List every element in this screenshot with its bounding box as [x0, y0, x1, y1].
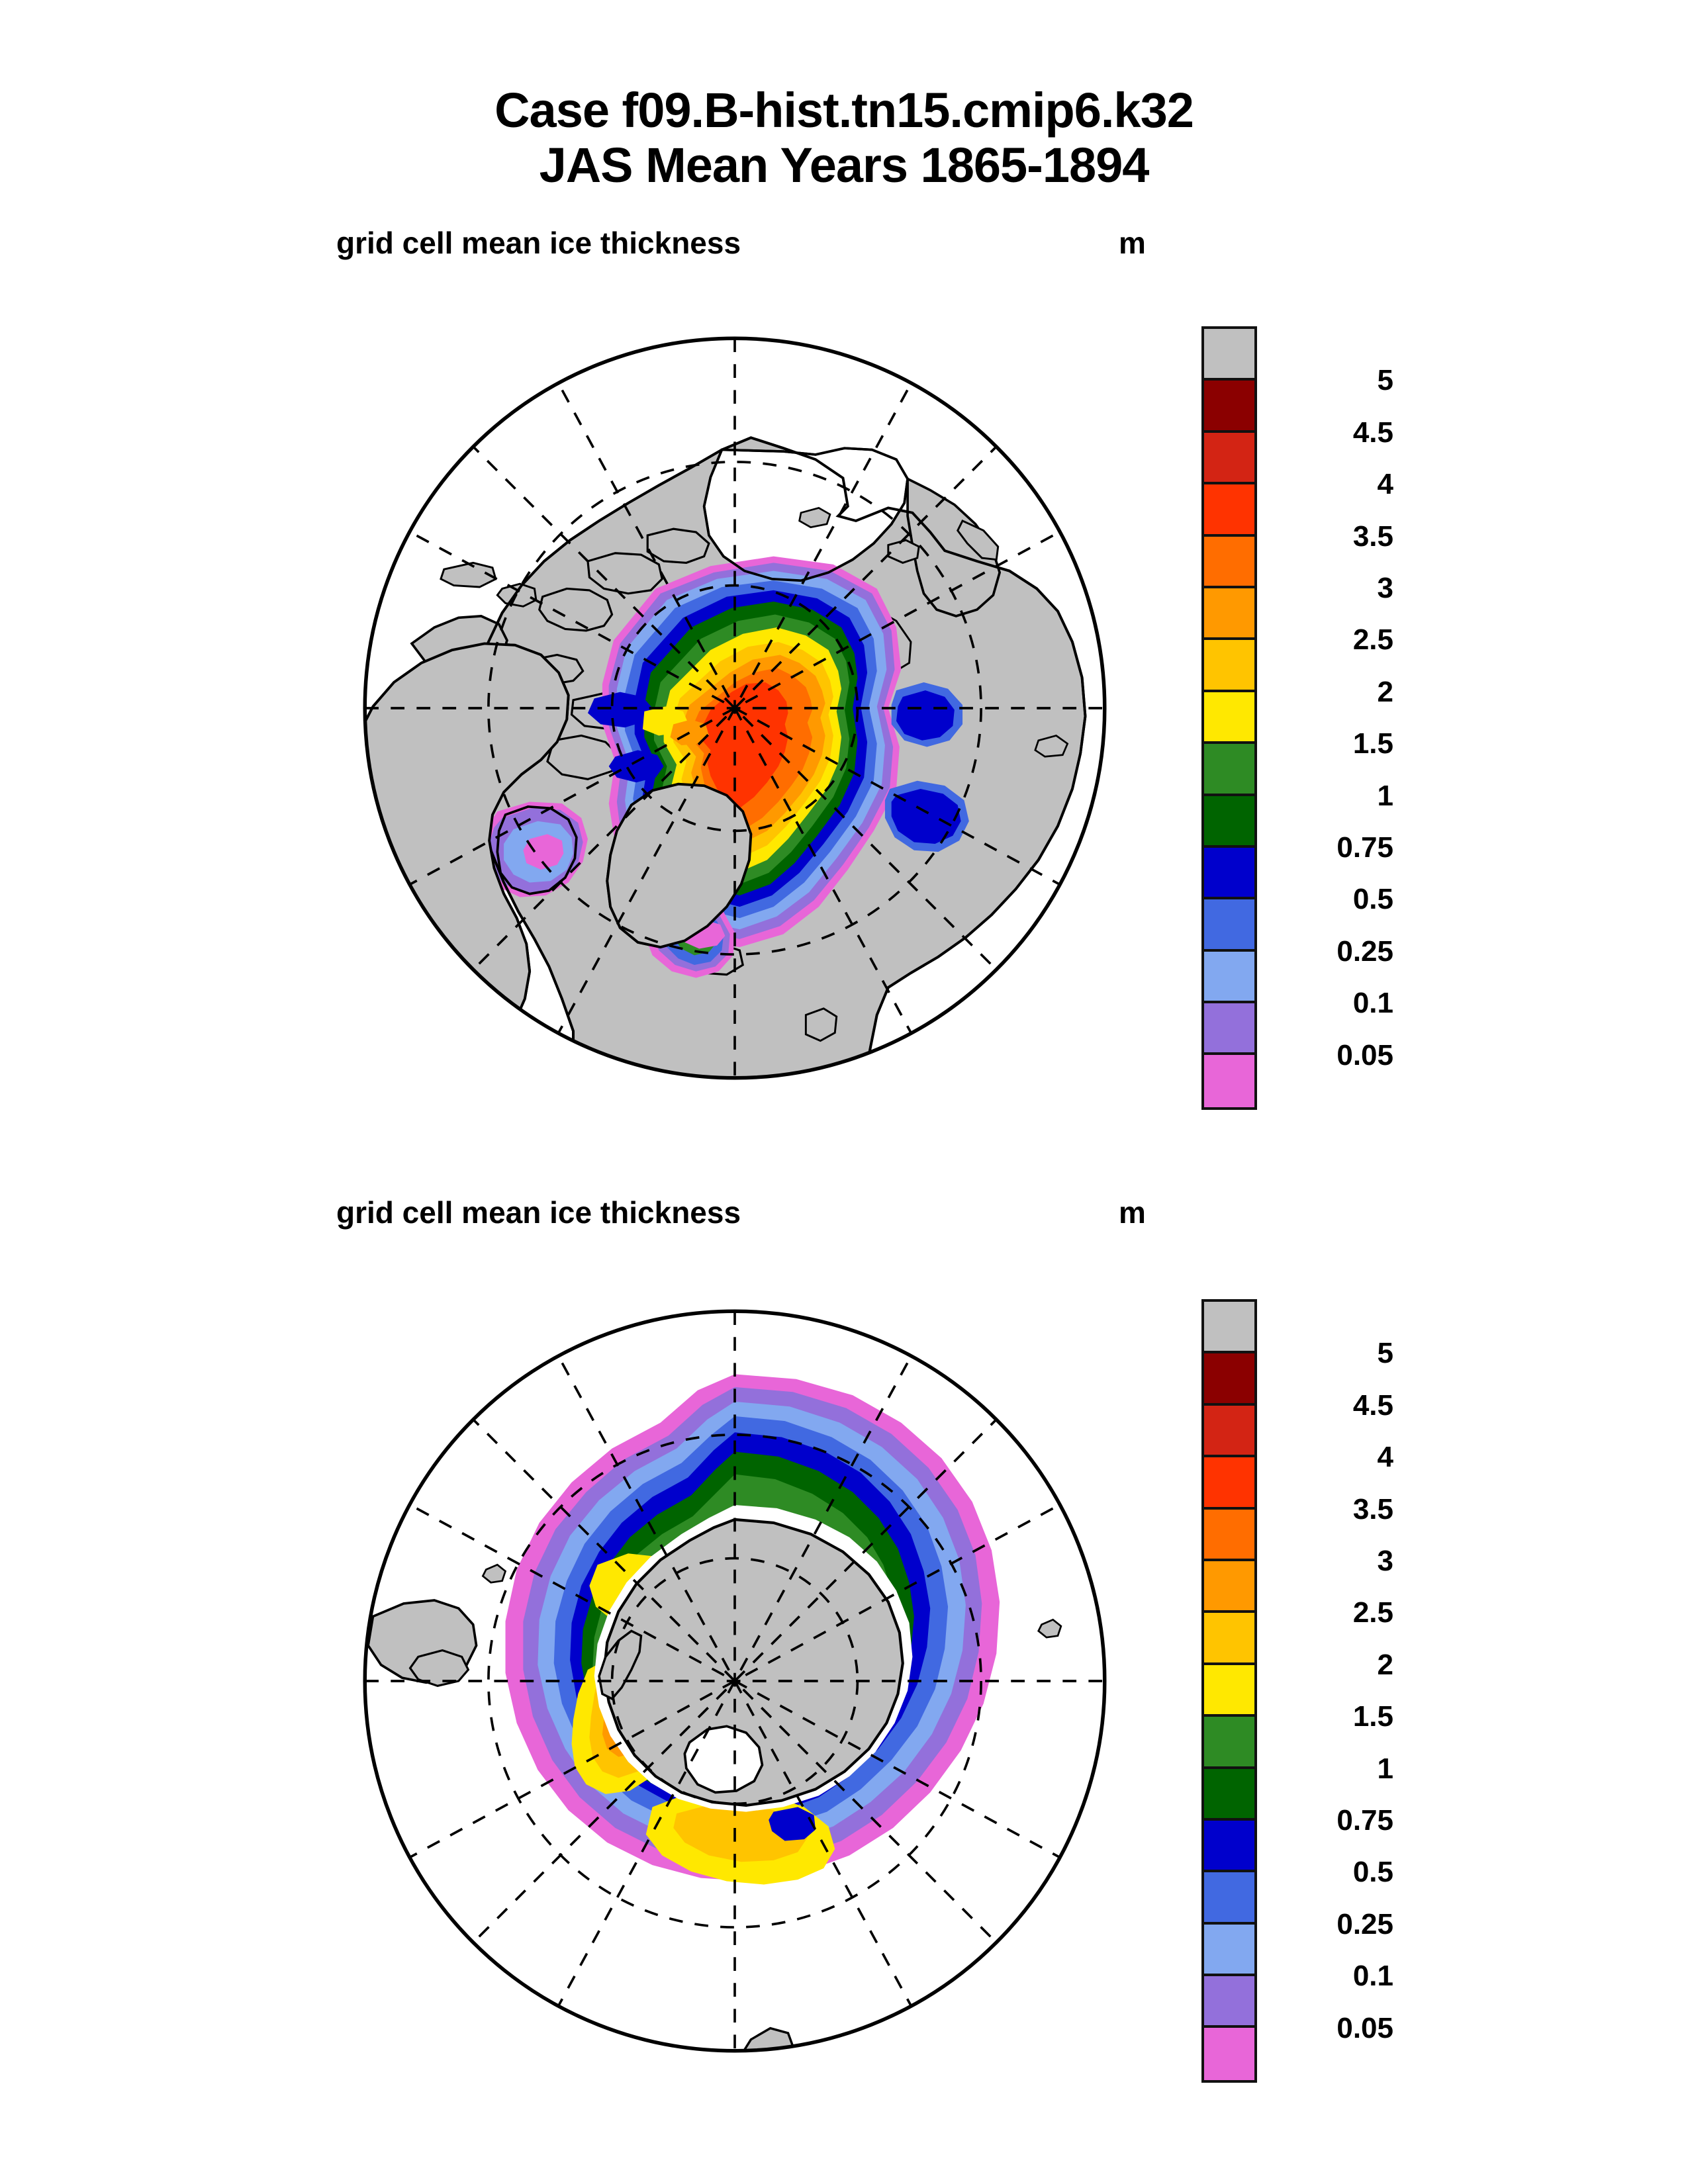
colorbar-tick-label-2: 4	[1271, 468, 1393, 501]
page-title: Case f09.B-hist.tn15.cmip6.k32 JAS Mean …	[0, 83, 1688, 193]
colorbar-tick-label-11: 0.25	[1271, 935, 1393, 968]
colorbar-tick-label-7: 1.5	[1271, 727, 1393, 760]
ellesmere-island	[647, 529, 709, 563]
arctic-unit-label: m	[1119, 225, 1146, 261]
arctic-subtitle-row: grid cell mean ice thickness m	[0, 225, 1688, 265]
ronne-filchner-ice-shelf	[684, 1726, 762, 1792]
arctic-colorbar-labels: 54.543.532.521.510.750.50.250.10.05	[1201, 326, 1420, 1110]
colorbar-tick-label-9: 0.75	[1271, 831, 1393, 864]
antarctic-map-panel[interactable]	[331, 1277, 1139, 2085]
colorbar-tick-label-8: 1	[1271, 1752, 1393, 1786]
colorbar-tick-label-5: 2.5	[1271, 623, 1393, 657]
colorbar-tick-label-13: 0.05	[1271, 2012, 1393, 2045]
title-line-1: Case f09.B-hist.tn15.cmip6.k32	[0, 83, 1688, 138]
colorbar-tick-label-1: 4.5	[1271, 1389, 1393, 1422]
colorbar-tick-label-2: 4	[1271, 1441, 1393, 1474]
colorbar-tick-label-4: 3	[1271, 1545, 1393, 1578]
title-line-2: JAS Mean Years 1865-1894	[0, 138, 1688, 193]
arctic-map-panel[interactable]	[331, 304, 1139, 1112]
colorbar-tick-label-10: 0.5	[1271, 883, 1393, 916]
colorbar-tick-label-1: 4.5	[1271, 416, 1393, 449]
colorbar-tick-label-6: 2	[1271, 676, 1393, 709]
arctic-map-svg[interactable]	[331, 304, 1139, 1112]
colorbar-tick-label-9: 0.75	[1271, 1804, 1393, 1837]
colorbar-tick-label-0: 5	[1271, 1337, 1393, 1370]
arctic-variable-label: grid cell mean ice thickness	[336, 225, 741, 261]
antarctic-colorbar-labels: 54.543.532.521.510.750.50.250.10.05	[1201, 1299, 1420, 2083]
colorbar-tick-label-12: 0.1	[1271, 987, 1393, 1020]
antarctic-map-svg[interactable]	[331, 1277, 1139, 2085]
colorbar-tick-label-7: 1.5	[1271, 1700, 1393, 1733]
colorbar-tick-label-4: 3	[1271, 572, 1393, 605]
colorbar-tick-label-13: 0.05	[1271, 1039, 1393, 1072]
antarctic-unit-label: m	[1119, 1195, 1146, 1230]
colorbar-tick-label-3: 3.5	[1271, 1493, 1393, 1526]
colorbar-tick-label-0: 5	[1271, 364, 1393, 397]
colorbar-tick-label-8: 1	[1271, 780, 1393, 813]
svalbard	[888, 540, 919, 563]
colorbar-tick-label-3: 3.5	[1271, 520, 1393, 553]
colorbar-tick-label-12: 0.1	[1271, 1960, 1393, 1993]
colorbar-tick-label-11: 0.25	[1271, 1908, 1393, 1941]
antarctic-subtitle-row: grid cell mean ice thickness m	[0, 1195, 1688, 1234]
colorbar-tick-label-10: 0.5	[1271, 1856, 1393, 1889]
antarctic-variable-label: grid cell mean ice thickness	[336, 1195, 741, 1230]
colorbar-tick-label-5: 2.5	[1271, 1596, 1393, 1629]
colorbar-tick-label-6: 2	[1271, 1649, 1393, 1682]
